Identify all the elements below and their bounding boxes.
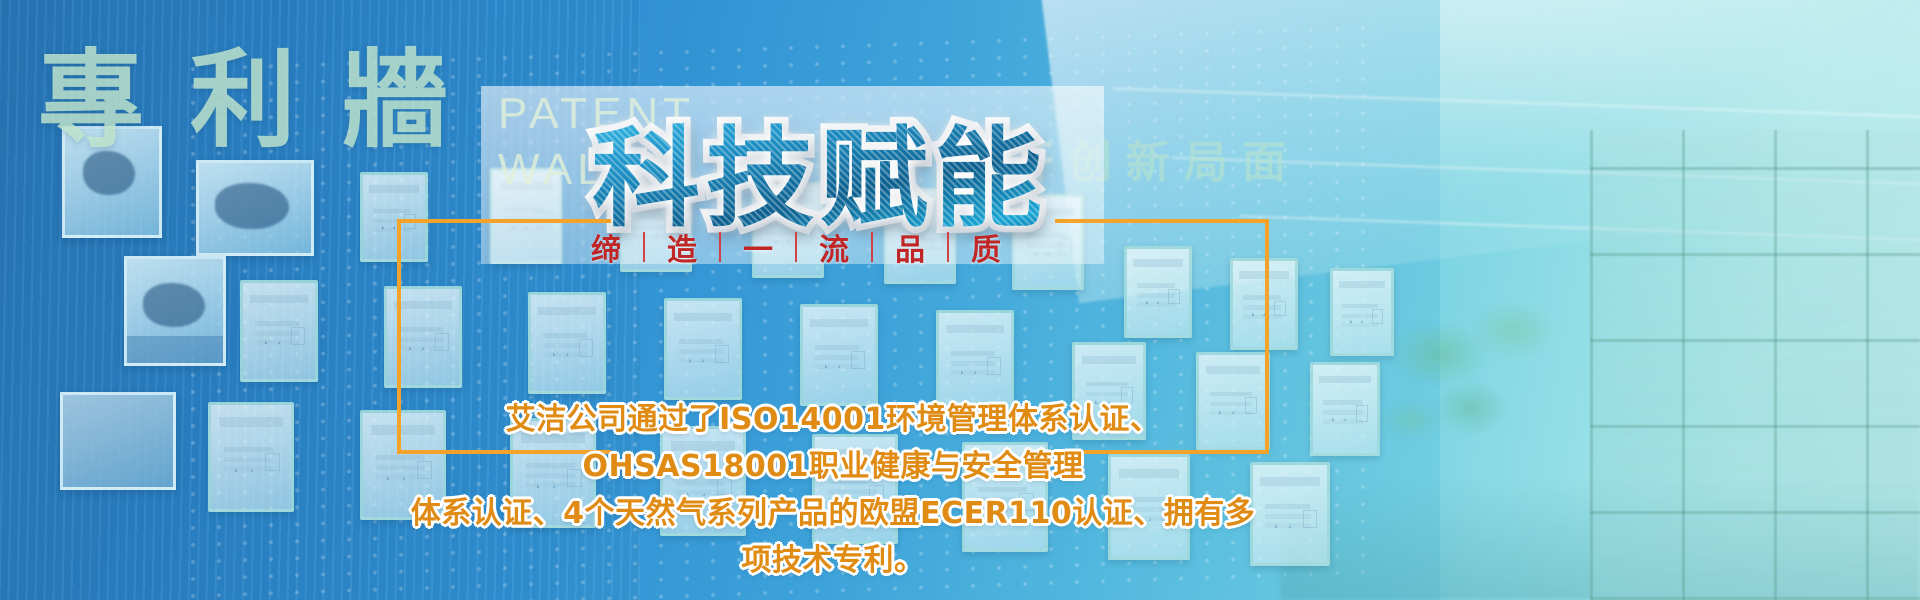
certificate-frame (528, 292, 606, 394)
photo-caption-bar (127, 336, 223, 363)
certificate-seal (715, 345, 729, 362)
wall-photo (196, 160, 314, 256)
subtitle-char-3: 一 (743, 225, 773, 269)
certificate-signature (689, 343, 705, 362)
subtitle-separator (795, 232, 797, 262)
certificate-frame (800, 304, 878, 406)
certificate-seal (435, 333, 449, 350)
patent-wall-banner: 專利牆 开创新局面 PATENT WALL 科技赋能 科技赋能 缔 造 一 流 … (0, 0, 1920, 600)
subtitle-row: 缔 造 一 流 品 质 (591, 225, 1001, 269)
certificate-frame (240, 280, 318, 382)
subtitle-separator (643, 232, 645, 262)
certificate-seal (1356, 405, 1368, 421)
certificate-frame (1330, 268, 1394, 356)
certificate-signature (1252, 299, 1266, 316)
certificate-signature (825, 349, 841, 368)
certificate-seal (987, 357, 1001, 374)
subtitle-char-2: 造 (667, 225, 697, 269)
certificate-seal (579, 339, 593, 356)
ceiling-line (1113, 88, 1920, 119)
certificate-frame (208, 402, 294, 512)
certificate-seal (1303, 510, 1317, 528)
certificate-frame (384, 286, 462, 388)
certificate-signature (553, 337, 569, 356)
certificate-signature (961, 355, 977, 374)
subtitle-char-5: 品 (895, 225, 925, 269)
subtitle-char-4: 流 (819, 225, 849, 269)
description-text: 艾洁公司通过了ISO14001环境管理体系认证、OHSAS18001职业健康与安… (397, 396, 1269, 584)
certificate-signature (409, 331, 425, 350)
subtitle-separator (947, 232, 949, 262)
wall-photo-detail (60, 392, 176, 490)
certificate-frame (664, 298, 742, 400)
photo-blob (215, 183, 289, 229)
certificate-seal (265, 453, 280, 472)
certificate-seal (1372, 309, 1383, 324)
subtitle-separator (719, 232, 721, 262)
certificate-signature (235, 451, 253, 472)
wall-photo (124, 256, 226, 366)
photo-blob (143, 283, 205, 327)
subtitle-char-6: 质 (971, 225, 1001, 269)
certificate-seal (404, 214, 416, 229)
photo-caption-bar (63, 395, 173, 487)
certificate-signature (1332, 404, 1346, 422)
certificate-frame (360, 172, 428, 262)
background-shelf (1590, 130, 1920, 600)
certificate-frame (1124, 246, 1192, 338)
certificate-signature (1275, 508, 1291, 528)
certificate-seal (851, 351, 865, 368)
certificate-frame (1230, 258, 1298, 350)
certificate-signature (1350, 307, 1363, 323)
background-calligraphy-patent-wall: 專利牆 (38, 14, 494, 168)
certificate-frame (1310, 362, 1380, 456)
certificate-signature (382, 212, 396, 229)
subtitle-separator (871, 232, 873, 262)
certificate-signature (1146, 287, 1160, 304)
certificate-seal (291, 327, 305, 344)
certificate-signature (265, 325, 281, 344)
certificate-seal (1274, 301, 1286, 317)
background-plant (1370, 300, 1600, 600)
subtitle-char-1: 缔 (591, 225, 621, 269)
certificate-seal (1168, 289, 1180, 305)
